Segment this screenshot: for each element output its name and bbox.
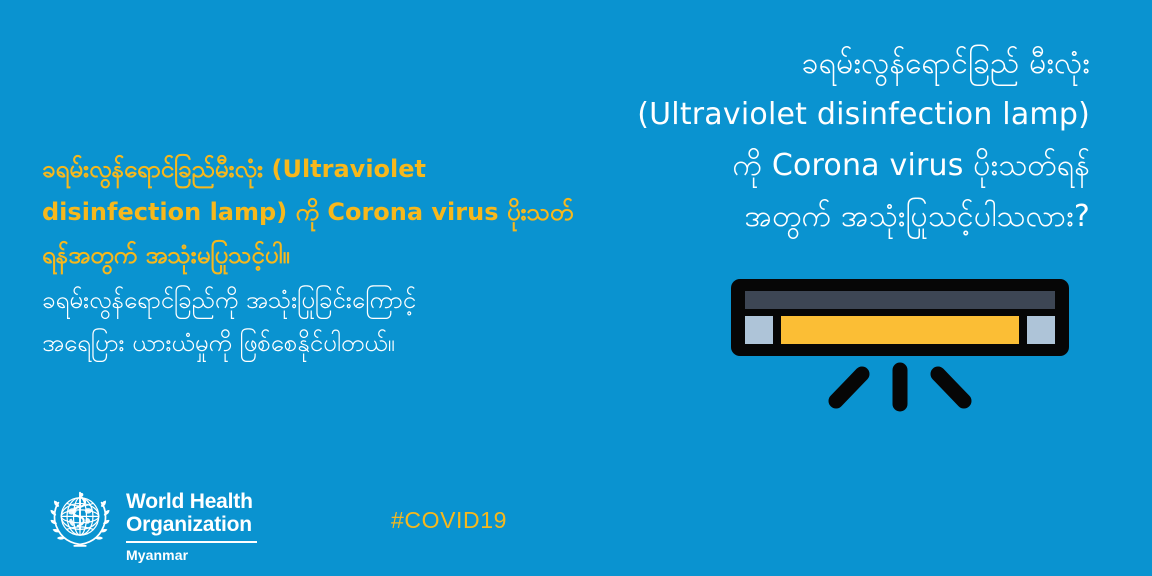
- headline-line-2: (Ultraviolet disinfection lamp): [530, 89, 1090, 140]
- warning-line-3: ရန်အတွက် အသုံးမပြုသင့်ပါ။: [42, 234, 622, 277]
- note-paragraph: ခရမ်းလွန်ရောင်ခြည်ကို အသုံးပြုခြင်းကြောင…: [42, 279, 622, 365]
- uv-lamp-icon: [728, 276, 1072, 418]
- who-wordmark: World Health Organization Myanmar: [126, 484, 257, 563]
- who-logo: World Health Organization Myanmar: [44, 484, 257, 563]
- lamp-uv-tube: [781, 316, 1019, 344]
- warning-line-1: ခရမ်းလွန်ရောင်ခြည်မီးလုံး (Ultraviolet: [42, 148, 622, 191]
- lamp-endcap-right: [1027, 316, 1055, 344]
- light-ray-right: [938, 374, 964, 401]
- who-wordmark-line-1: World Health: [126, 490, 257, 513]
- hashtag-covid19: #COVID19: [391, 507, 507, 533]
- note-line-1: ခရမ်းလွန်ရောင်ခြည်ကို အသုံးပြုခြင်းကြောင…: [42, 279, 622, 322]
- uv-lamp-illustration: [728, 276, 1072, 418]
- lamp-endcap-left: [745, 316, 773, 344]
- headline-line-1: ခရမ်းလွန်ရောင်ခြည် မီးလုံး: [530, 38, 1090, 89]
- who-country-label: Myanmar: [126, 547, 257, 563]
- warning-line-2: disinfection lamp) ကို Corona virus ပိုး…: [42, 191, 622, 234]
- note-line-2: အရေပြား ယားယံမှုကို ဖြစ်စေနိုင်ပါတယ်။: [42, 322, 622, 365]
- body-copy: ခရမ်းလွန်ရောင်ခြည်မီးလုံး (Ultraviolet d…: [42, 148, 622, 365]
- who-emblem-icon: [44, 484, 116, 556]
- poster-canvas: ခရမ်းလွန်ရောင်ခြည် မီးလုံး (Ultraviolet …: [0, 0, 1152, 576]
- warning-paragraph: ခရမ်းလွန်ရောင်ခြည်မီးလုံး (Ultraviolet d…: [42, 148, 622, 277]
- light-ray-left: [836, 374, 862, 401]
- serpent-head: [80, 493, 84, 497]
- lamp-top-bar: [745, 291, 1055, 309]
- who-logo-divider: [126, 541, 257, 543]
- who-wordmark-line-2: Organization: [126, 513, 257, 536]
